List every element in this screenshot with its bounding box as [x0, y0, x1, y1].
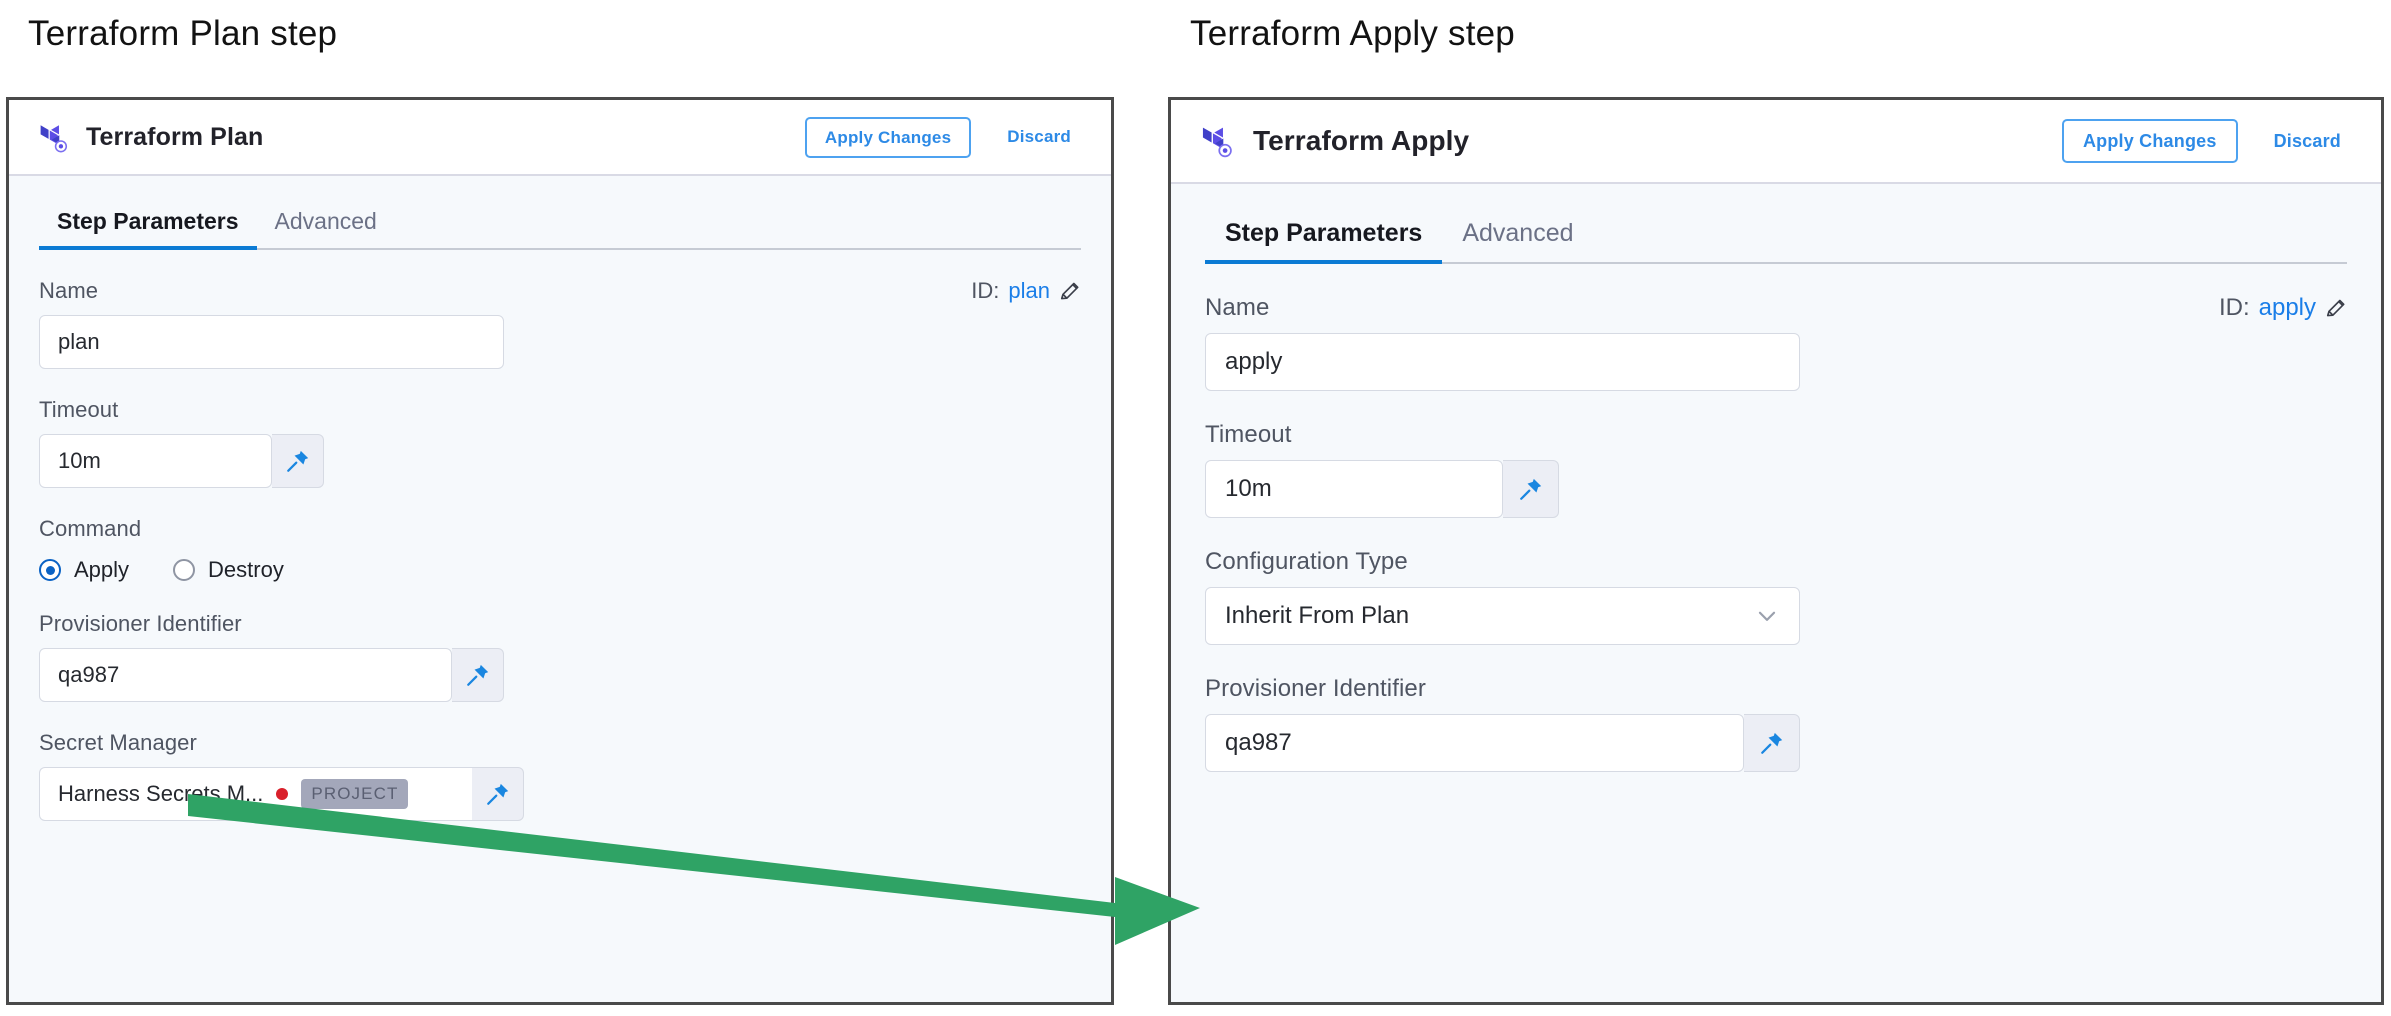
tab-step-parameters[interactable]: Step Parameters — [39, 208, 257, 248]
plan-command-label-row: Command — [39, 516, 1081, 542]
plan-step-title: Terraform Plan — [86, 123, 263, 152]
plan-command-radio-group: Apply Destroy — [39, 557, 1081, 583]
apply-name-label-row: Name ID: apply — [1205, 294, 2347, 322]
tab-advanced[interactable]: Advanced — [1442, 219, 1593, 262]
discard-button[interactable]: Discard — [2268, 130, 2347, 153]
plan-timeout-pin-button[interactable] — [272, 434, 324, 488]
plan-secret-manager-field: Secret Manager Harness Secrets M... PROJ… — [39, 730, 1081, 821]
plan-timeout-label: Timeout — [39, 397, 118, 423]
apply-name-label: Name — [1205, 294, 1269, 322]
tab-step-parameters[interactable]: Step Parameters — [1205, 219, 1442, 262]
pencil-icon[interactable] — [2325, 297, 2347, 319]
plan-name-input[interactable]: plan — [39, 315, 504, 369]
apply-provisioner-label-row: Provisioner Identifier — [1205, 675, 2347, 703]
apply-configuration-type-select[interactable]: Inherit From Plan — [1205, 587, 1800, 645]
pin-icon — [1518, 476, 1544, 502]
radio-option-destroy[interactable]: Destroy — [173, 557, 284, 583]
plan-id-value[interactable]: plan — [1008, 278, 1050, 304]
apply-provisioner-input[interactable]: qa987 — [1205, 714, 1744, 772]
terraform-apply-panel: Terraform Apply Apply Changes Discard St… — [1168, 97, 2384, 1005]
plan-name-label: Name — [39, 278, 98, 304]
plan-secret-manager-value: Harness Secrets M... — [58, 781, 263, 807]
pencil-icon[interactable] — [1059, 280, 1081, 302]
radio-apply-label: Apply — [74, 557, 129, 583]
apply-header-actions: Apply Changes Discard — [2062, 119, 2347, 163]
plan-panel-header: Terraform Plan Apply Changes Discard — [9, 100, 1111, 176]
plan-timeout-label-row: Timeout — [39, 397, 1081, 423]
pin-icon — [285, 448, 311, 474]
plan-timeout-input-wrap: 10m — [39, 434, 324, 488]
plan-tabs: Step Parameters Advanced — [39, 176, 1081, 250]
radio-destroy-icon — [173, 559, 195, 581]
chevron-down-icon — [1754, 603, 1780, 629]
plan-command-field: Command Apply Destroy — [39, 516, 1081, 583]
scope-badge: PROJECT — [301, 779, 408, 809]
plan-provisioner-label: Provisioner Identifier — [39, 611, 242, 637]
plan-provisioner-label-row: Provisioner Identifier — [39, 611, 1081, 637]
screenshot-root: Terraform Plan step Terraform Apply step… — [0, 0, 2391, 1016]
plan-name-label-row: Name ID: plan — [39, 278, 1081, 304]
apply-provisioner-identifier-field: Provisioner Identifier qa987 — [1205, 675, 2347, 772]
apply-step-title: Terraform Apply — [1253, 125, 1469, 157]
plan-name-input-wrap: plan — [39, 315, 1081, 369]
apply-timeout-label-row: Timeout — [1205, 421, 2347, 449]
caption-plan-step: Terraform Plan step — [28, 14, 337, 54]
apply-panel-header: Terraform Apply Apply Changes Discard — [1171, 100, 2381, 184]
plan-id-prefix: ID: — [971, 278, 999, 304]
terraform-plan-panel: Terraform Plan Apply Changes Discard Ste… — [6, 97, 1114, 1005]
plan-secret-manager-label-row: Secret Manager — [39, 730, 1081, 756]
apply-id-prefix: ID: — [2219, 294, 2250, 322]
plan-secret-manager-input[interactable]: Harness Secrets M... PROJECT — [39, 767, 472, 821]
apply-configuration-type-value: Inherit From Plan — [1225, 602, 1409, 630]
apply-configuration-type-field: Configuration Type Inherit From Plan — [1205, 548, 2347, 645]
discard-button[interactable]: Discard — [1001, 126, 1077, 148]
terraform-logo-icon — [37, 122, 70, 155]
apply-timeout-pin-button[interactable] — [1503, 460, 1559, 518]
plan-provisioner-input[interactable]: qa987 — [39, 648, 452, 702]
caption-apply-step: Terraform Apply step — [1190, 14, 1515, 54]
apply-tabs: Step Parameters Advanced — [1205, 184, 2347, 264]
plan-name-field: Name ID: plan plan — [39, 278, 1081, 369]
apply-name-input-wrap: apply — [1205, 333, 1800, 391]
radio-option-apply[interactable]: Apply — [39, 557, 129, 583]
apply-changes-button[interactable]: Apply Changes — [2062, 119, 2238, 163]
apply-id-value[interactable]: apply — [2259, 294, 2316, 322]
plan-panel-body: Step Parameters Advanced Name ID: plan — [9, 176, 1111, 1002]
radio-destroy-label: Destroy — [208, 557, 284, 583]
apply-timeout-field: Timeout 10m — [1205, 421, 2347, 518]
pin-icon — [465, 662, 491, 688]
radio-apply-icon — [39, 559, 61, 581]
plan-timeout-input[interactable]: 10m — [39, 434, 272, 488]
plan-secret-manager-label: Secret Manager — [39, 730, 197, 756]
apply-provisioner-input-wrap: qa987 — [1205, 714, 1800, 772]
apply-id-chunk: ID: apply — [2219, 294, 2347, 322]
plan-secret-manager-input-wrap: Harness Secrets M... PROJECT — [39, 767, 524, 821]
apply-name-field: Name ID: apply apply — [1205, 294, 2347, 391]
apply-changes-button[interactable]: Apply Changes — [805, 117, 971, 158]
plan-provisioner-input-wrap: qa987 — [39, 648, 504, 702]
plan-provisioner-pin-button[interactable] — [452, 648, 504, 702]
plan-header-actions: Apply Changes Discard — [805, 117, 1077, 158]
plan-secret-manager-pin-button[interactable] — [472, 767, 524, 821]
apply-timeout-input-wrap: 10m — [1205, 460, 1559, 518]
plan-id-chunk: ID: plan — [971, 278, 1081, 304]
apply-timeout-input[interactable]: 10m — [1205, 460, 1503, 518]
apply-configuration-type-label: Configuration Type — [1205, 548, 1408, 576]
pin-icon — [485, 781, 511, 807]
tab-advanced[interactable]: Advanced — [257, 208, 395, 248]
apply-name-input[interactable]: apply — [1205, 333, 1800, 391]
plan-command-label: Command — [39, 516, 141, 542]
apply-timeout-label: Timeout — [1205, 421, 1292, 449]
red-dot-icon — [276, 788, 288, 800]
apply-provisioner-pin-button[interactable] — [1744, 714, 1800, 772]
apply-configuration-type-label-row: Configuration Type — [1205, 548, 2347, 576]
plan-provisioner-identifier-field: Provisioner Identifier qa987 — [39, 611, 1081, 702]
apply-provisioner-label: Provisioner Identifier — [1205, 675, 1426, 703]
terraform-logo-icon — [1199, 124, 1235, 160]
plan-timeout-field: Timeout 10m — [39, 397, 1081, 488]
pin-icon — [1759, 730, 1785, 756]
apply-panel-body: Step Parameters Advanced Name ID: apply — [1171, 184, 2381, 1002]
